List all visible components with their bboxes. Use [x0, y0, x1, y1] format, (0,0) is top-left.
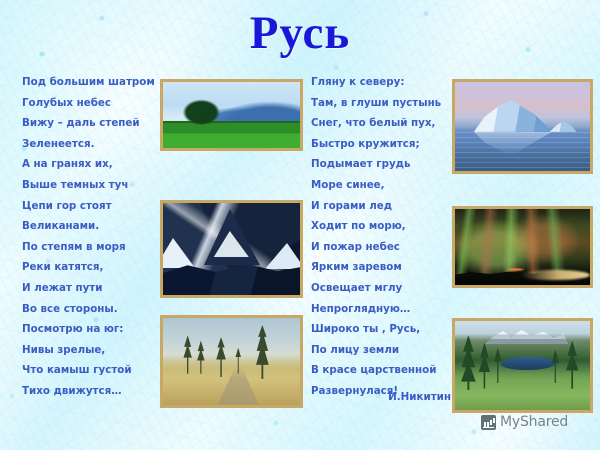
poem-line: Ходит по морю, — [311, 216, 441, 237]
poem-line: И горами лед — [311, 196, 441, 217]
poem-line: Нивы зрелые, — [22, 340, 155, 361]
poem-line: Там, в глуши пустынь — [311, 93, 441, 114]
snowy-peaks-shape — [485, 328, 569, 344]
poem-line: Во все стороны. — [22, 299, 155, 320]
poem-line: Реки катятся, — [22, 257, 155, 278]
page-title: Русь — [0, 4, 600, 62]
poem-line: Под большим шатром — [22, 72, 155, 93]
pine-tree-shape — [196, 341, 206, 374]
poem-line: И лежат пути — [22, 278, 155, 299]
iceberg-shape — [474, 100, 552, 132]
tree-trunk-shape — [201, 115, 203, 124]
left-ridge-shape — [160, 238, 195, 268]
meadow-shape — [455, 371, 590, 410]
poem-line: Подымает грудь — [311, 154, 441, 175]
poem-line: Широко ты , Русь, — [311, 319, 441, 340]
poem-line: Тихо движутся… — [22, 381, 155, 402]
poem-line: Снег, что белый пух, — [311, 113, 441, 134]
pine-tree-shape — [255, 325, 270, 379]
water-ripples-overlay — [455, 132, 590, 171]
photo-artwork — [163, 318, 300, 405]
poem-line: А на гранях их, — [22, 154, 155, 175]
photo-snowy-mountain-peak — [160, 200, 303, 298]
presentation-slide: Русь Под большим шатром Голубых небес Ви… — [0, 0, 600, 450]
pine-tree-shape — [182, 335, 193, 373]
poem-line: По степям в моря — [22, 237, 155, 258]
watermark-label: MyShared — [500, 414, 568, 430]
photo-artwork — [163, 203, 300, 295]
poem-line: Море синее, — [311, 175, 441, 196]
poem-line: В красе царственной — [311, 360, 441, 381]
poem-line: Гляну к северу: — [311, 72, 441, 93]
photo-artwork — [455, 321, 590, 410]
lake-shape — [501, 357, 555, 370]
poem-line: Ярким заревом — [311, 257, 441, 278]
poem-line: Голубых небес — [22, 93, 155, 114]
photo-green-field-with-lone-tree — [160, 79, 303, 151]
photo-artwork — [163, 82, 300, 148]
presentation-chart-icon — [481, 415, 496, 430]
poem-line: Зеленеется. — [22, 134, 155, 155]
poem-line: Цепи гор стоят — [22, 196, 155, 217]
photo-artwork — [455, 82, 590, 171]
poem-left-column: Под большим шатром Голубых небес Вижу – … — [22, 72, 155, 402]
poem-line: И пожар небес — [311, 237, 441, 258]
poem-line: Посмотрю на юг: — [22, 319, 155, 340]
pine-tree-shape — [215, 337, 227, 377]
photo-rye-field-with-pines — [160, 315, 303, 408]
poem-line: Выше темных туч — [22, 175, 155, 196]
poem-line: Непроглядную… — [311, 299, 441, 320]
poem-line: Освещает мглу — [311, 278, 441, 299]
poem-line: Что камыш густой — [22, 360, 155, 381]
poem-line: По лицу земли — [311, 340, 441, 361]
photo-iceberg-on-water — [452, 79, 593, 174]
poem-line: Вижу – даль степей — [22, 113, 155, 134]
right-ridge-shape — [265, 243, 303, 269]
photo-artwork — [455, 209, 590, 285]
photo-alpine-lake-meadow — [452, 318, 593, 413]
poem-line: Великанами. — [22, 216, 155, 237]
myshared-watermark: MyShared — [481, 414, 568, 430]
snow-cap-shape — [213, 231, 248, 257]
horizon-light-shape — [506, 268, 525, 271]
poem-line: Быстро кружится; — [311, 134, 441, 155]
author-signature: И.Никитин — [311, 391, 451, 403]
photo-aurora-borealis — [452, 206, 593, 288]
small-iceberg-shape — [550, 121, 577, 132]
poem-right-column: Гляну к северу: Там, в глуши пустынь Сне… — [311, 72, 441, 402]
